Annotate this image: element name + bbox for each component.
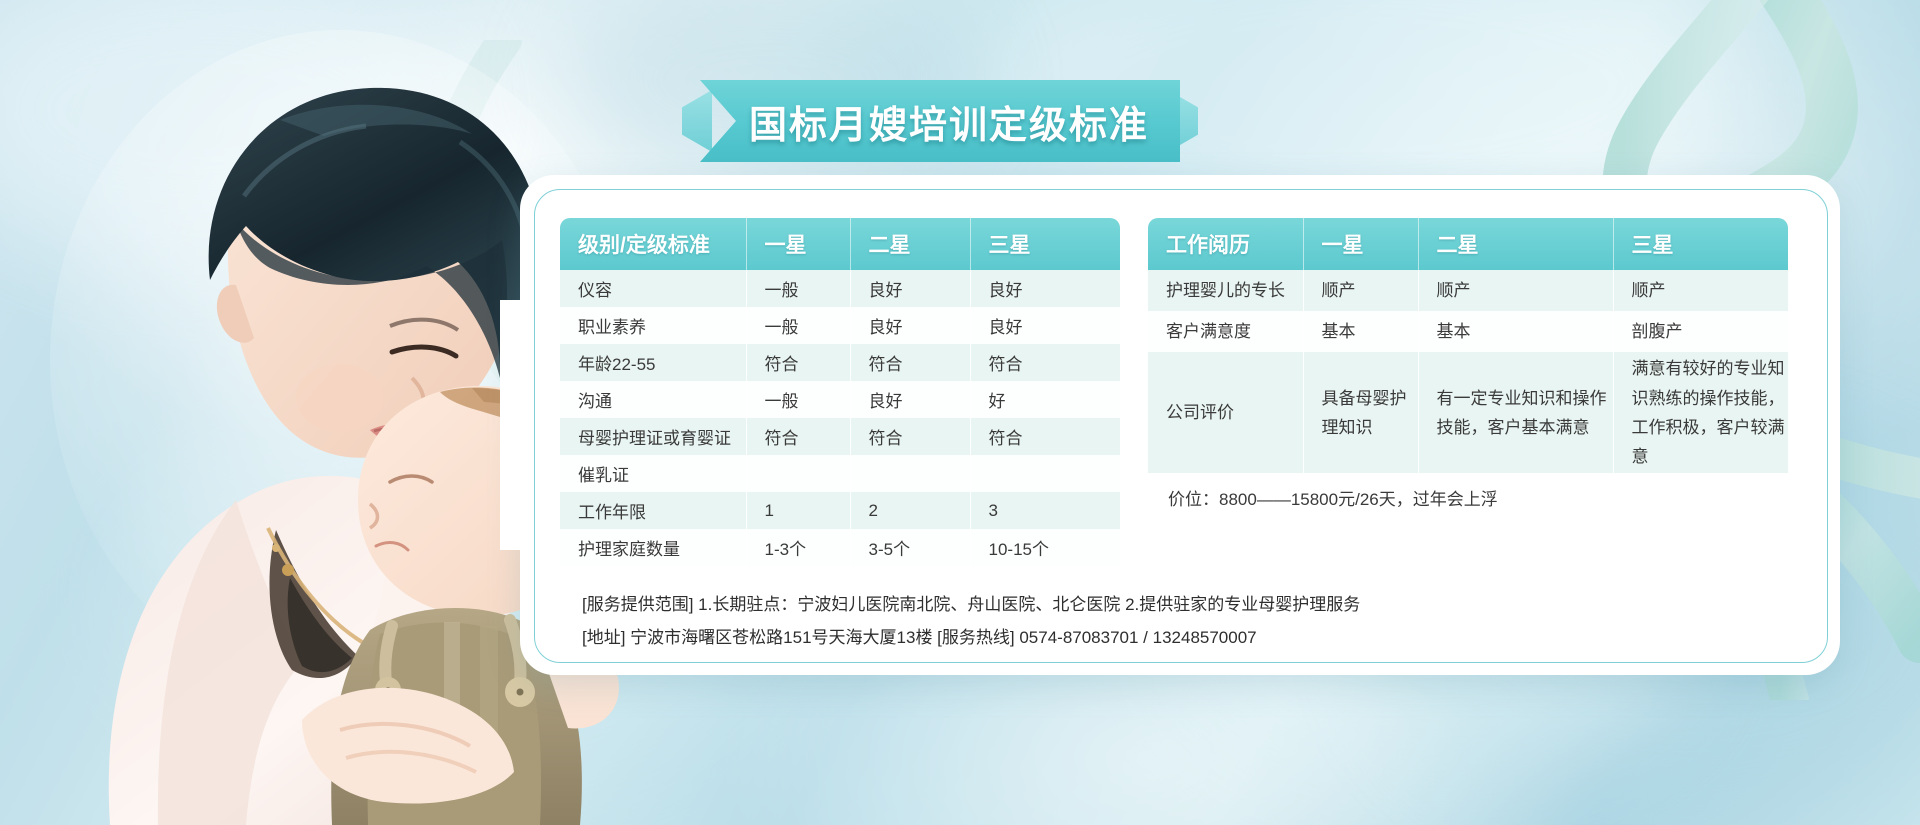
cell-star3: 好 xyxy=(970,381,1120,418)
footer-info: [服务提供范围] 1.长期驻点：宁波妇儿医院南北院、舟山医院、北仑医院 2.提供… xyxy=(582,588,1782,654)
cell-star1: 一般 xyxy=(746,381,850,418)
cell-star1: 一般 xyxy=(746,307,850,344)
cell-criteria: 催乳证 xyxy=(560,455,746,492)
cell-star2: 良好 xyxy=(850,270,970,307)
grading-standard-table: 级别/定级标准 一星 二星 三星 仪容 一般 良好 良好 职业素养 xyxy=(560,218,1120,566)
card-left-notch xyxy=(500,300,546,550)
cell-criteria: 仪容 xyxy=(560,270,746,307)
cell-star1: 一般 xyxy=(746,270,850,307)
table-row: 护理家庭数量 1-3个 3-5个 10-15个 xyxy=(560,529,1120,566)
table-row: 年龄22-55 符合 符合 符合 xyxy=(560,344,1120,381)
left-th-star2: 二星 xyxy=(850,218,970,270)
cell-criteria: 母婴护理证或育婴证 xyxy=(560,418,746,455)
cell-experience: 公司评价 xyxy=(1148,352,1303,473)
left-th-criteria: 级别/定级标准 xyxy=(560,218,746,270)
table-header-row: 工作阅历 一星 二星 三星 xyxy=(1148,218,1788,270)
cell-star3 xyxy=(970,455,1120,492)
cell-star3: 满意有较好的专业知识熟练的操作技能，工作积极，客户较满意 xyxy=(1613,352,1788,473)
cell-star1: 1-3个 xyxy=(746,529,850,566)
tables-area: 级别/定级标准 一星 二星 三星 仪容 一般 良好 良好 职业素养 xyxy=(560,218,1810,518)
cell-star3: 10-15个 xyxy=(970,529,1120,566)
cell-experience: 客户满意度 xyxy=(1148,311,1303,352)
cell-star1: 符合 xyxy=(746,344,850,381)
cell-star3: 符合 xyxy=(970,344,1120,381)
right-table-wrapper: 工作阅历 一星 二星 三星 护理婴儿的专长 顺产 顺产 顺产 客户满意度 xyxy=(1148,218,1788,518)
cell-star2: 良好 xyxy=(850,307,970,344)
banner-wrap: 国标月嫂培训定级标准 xyxy=(700,80,1180,162)
left-th-star3: 三星 xyxy=(970,218,1120,270)
cell-star1 xyxy=(746,455,850,492)
cell-criteria: 职业素养 xyxy=(560,307,746,344)
table-header-row: 级别/定级标准 一星 二星 三星 xyxy=(560,218,1120,270)
cell-criteria: 工作年限 xyxy=(560,492,746,529)
cell-star2: 顺产 xyxy=(1418,270,1613,311)
cell-star2: 2 xyxy=(850,492,970,529)
cell-star2: 良好 xyxy=(850,381,970,418)
table-row: 仪容 一般 良好 良好 xyxy=(560,270,1120,307)
table-row: 催乳证 xyxy=(560,455,1120,492)
right-th-star3: 三星 xyxy=(1613,218,1788,270)
banner-title-block: 国标月嫂培训定级标准 xyxy=(700,80,1180,162)
cell-star1: 符合 xyxy=(746,418,850,455)
cell-star3: 剖腹产 xyxy=(1613,311,1788,352)
cell-star2: 符合 xyxy=(850,344,970,381)
table-row: 护理婴儿的专长 顺产 顺产 顺产 xyxy=(1148,270,1788,311)
right-th-experience: 工作阅历 xyxy=(1148,218,1303,270)
table-row: 客户满意度 基本 基本 剖腹产 xyxy=(1148,311,1788,352)
footer-service-scope: [服务提供范围] 1.长期驻点：宁波妇儿医院南北院、舟山医院、北仑医院 2.提供… xyxy=(582,588,1782,621)
cell-star2: 有一定专业知识和操作技能，客户基本满意 xyxy=(1418,352,1613,473)
footer-address-hotline: [地址] 宁波市海曙区苍松路151号天海大厦13楼 [服务热线] 0574-87… xyxy=(582,621,1782,654)
banner-canvas: 国标月嫂培训定级标准 级别/定级标准 一星 二星 三星 仪容 xyxy=(0,0,1920,825)
cell-star3: 顺产 xyxy=(1613,270,1788,311)
cell-experience: 护理婴儿的专长 xyxy=(1148,270,1303,311)
cell-star3: 良好 xyxy=(970,307,1120,344)
cell-criteria: 护理家庭数量 xyxy=(560,529,746,566)
cell-star1: 具备母婴护理知识 xyxy=(1303,352,1418,473)
cell-star1: 基本 xyxy=(1303,311,1418,352)
background-blur-1 xyxy=(0,0,460,260)
right-th-star2: 二星 xyxy=(1418,218,1613,270)
cell-star2: 基本 xyxy=(1418,311,1613,352)
cell-star3: 良好 xyxy=(970,270,1120,307)
table-row: 沟通 一般 良好 好 xyxy=(560,381,1120,418)
cell-star1: 顺产 xyxy=(1303,270,1418,311)
cell-star2: 符合 xyxy=(850,418,970,455)
table-row: 公司评价 具备母婴护理知识 有一定专业知识和操作技能，客户基本满意 满意有较好的… xyxy=(1148,352,1788,473)
table-row: 工作年限 1 2 3 xyxy=(560,492,1120,529)
table-row: 职业素养 一般 良好 良好 xyxy=(560,307,1120,344)
left-th-star1: 一星 xyxy=(746,218,850,270)
cell-criteria: 沟通 xyxy=(560,381,746,418)
cell-star1: 1 xyxy=(746,492,850,529)
cell-criteria: 年龄22-55 xyxy=(560,344,746,381)
work-experience-table: 工作阅历 一星 二星 三星 护理婴儿的专长 顺产 顺产 顺产 客户满意度 xyxy=(1148,218,1788,473)
cell-star2: 3-5个 xyxy=(850,529,970,566)
banner-title-text: 国标月嫂培训定级标准 xyxy=(700,80,1180,162)
price-note: 价位：8800——15800元/26天，过年会上浮 xyxy=(1148,485,1788,510)
table-row: 母婴护理证或育婴证 符合 符合 符合 xyxy=(560,418,1120,455)
right-th-star1: 一星 xyxy=(1303,218,1418,270)
cell-star3: 3 xyxy=(970,492,1120,529)
cell-star3: 符合 xyxy=(970,418,1120,455)
cell-star2 xyxy=(850,455,970,492)
left-table-wrapper: 级别/定级标准 一星 二星 三星 仪容 一般 良好 良好 职业素养 xyxy=(560,218,1120,518)
